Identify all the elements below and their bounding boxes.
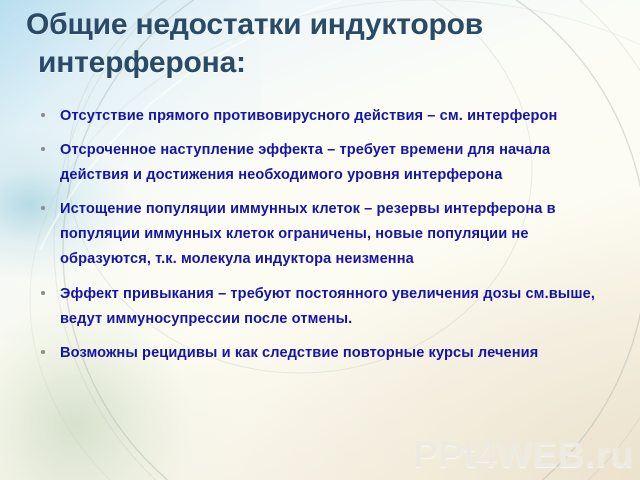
list-item-text: Отсроченное наступление эффекта – требуе… — [60, 142, 550, 183]
bullet-dot-icon — [41, 291, 45, 295]
bullet-dot-icon — [41, 350, 45, 354]
bullet-list: Отсутствие прямого противовирусного дейс… — [38, 104, 606, 375]
list-item: Истощение популяции иммунных клеток – ре… — [38, 197, 606, 272]
list-item: Возможны рецидивы и как следствие повтор… — [38, 341, 606, 366]
list-item-text: Эффект привыкания – требуют постоянного … — [60, 286, 595, 327]
list-item: Отсутствие прямого противовирусного дейс… — [38, 104, 606, 129]
bullet-dot-icon — [41, 147, 45, 151]
watermark: PPt4WEB.ru — [413, 434, 634, 476]
slide-title-line-1: Общие недостатки индукторов — [26, 8, 483, 41]
slide-title-line-2: интерферона: — [26, 44, 618, 82]
list-item-text: Истощение популяции иммунных клеток – ре… — [60, 201, 556, 267]
bullet-dot-icon — [41, 113, 45, 117]
list-item: Отсроченное наступление эффекта – требуе… — [38, 138, 606, 188]
list-item: Эффект привыкания – требуют постоянного … — [38, 282, 606, 332]
presentation-slide: Общие недостатки индукторов интерферона:… — [0, 0, 640, 480]
slide-title: Общие недостатки индукторов интерферона: — [26, 6, 618, 83]
bullet-dot-icon — [41, 206, 45, 210]
list-item-text: Возможны рецидивы и как следствие повтор… — [60, 345, 538, 361]
list-item-text: Отсутствие прямого противовирусного дейс… — [60, 108, 557, 124]
